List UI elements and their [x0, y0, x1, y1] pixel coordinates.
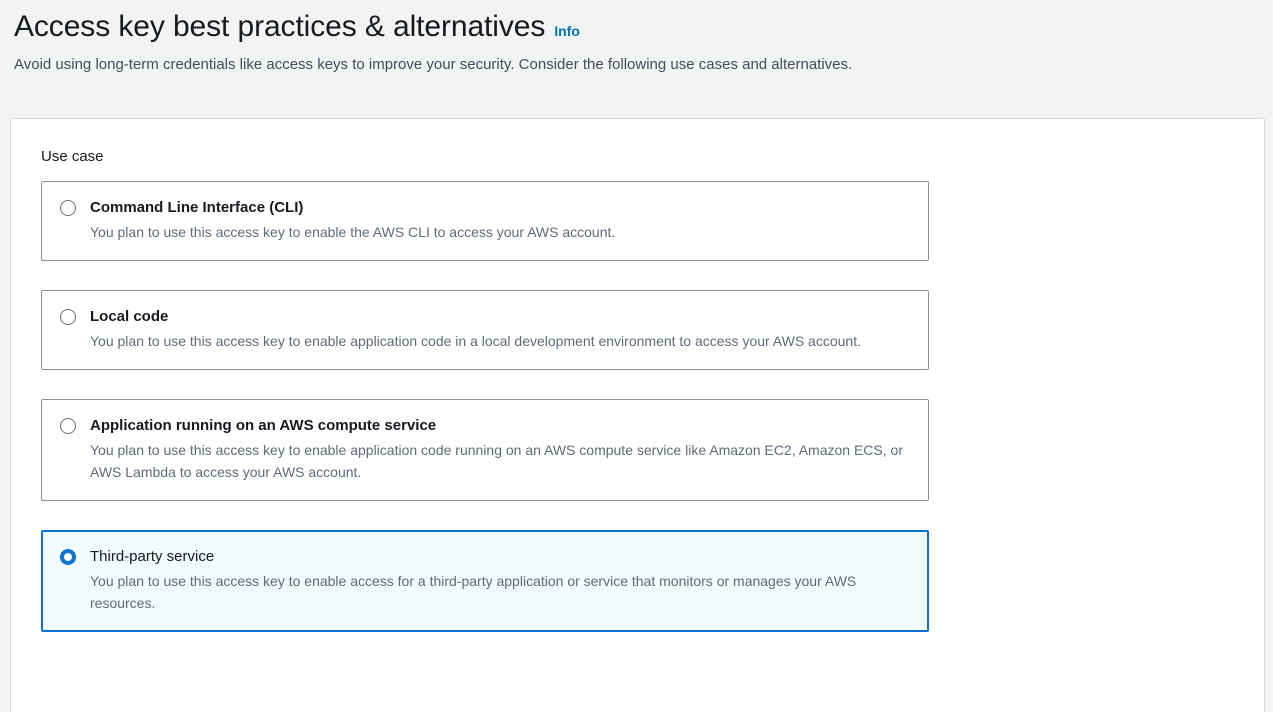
use-case-radio-group: Command Line Interface (CLI) You plan to…	[41, 181, 929, 632]
page-title: Access key best practices & alternatives	[14, 8, 545, 46]
radio-card-label: Application running on an AWS compute se…	[90, 416, 910, 436]
radio-card-description: You plan to use this access key to enabl…	[90, 570, 910, 614]
radio-card-description: You plan to use this access key to enabl…	[90, 439, 910, 483]
radio-card-local-code[interactable]: Local code You plan to use this access k…	[41, 290, 929, 370]
radio-card-description: You plan to use this access key to enabl…	[90, 330, 910, 352]
radio-card-cli[interactable]: Command Line Interface (CLI) You plan to…	[41, 181, 929, 261]
radio-card-text: Third-party service You plan to use this…	[90, 547, 910, 614]
use-case-panel-body: Use case Command Line Interface (CLI) Yo…	[11, 119, 1264, 632]
radio-button-icon[interactable]	[60, 309, 76, 325]
radio-card-description: You plan to use this access key to enabl…	[90, 221, 910, 243]
radio-card-label: Command Line Interface (CLI)	[90, 198, 910, 218]
radio-card-aws-compute-service[interactable]: Application running on an AWS compute se…	[41, 399, 929, 501]
access-key-best-practices-page: Access key best practices & alternatives…	[0, 0, 1273, 712]
radio-card-text: Application running on an AWS compute se…	[90, 416, 910, 483]
radio-card-text: Local code You plan to use this access k…	[90, 307, 910, 352]
radio-button-icon[interactable]	[60, 418, 76, 434]
radio-card-text: Command Line Interface (CLI) You plan to…	[90, 198, 910, 243]
radio-card-third-party-service[interactable]: Third-party service You plan to use this…	[41, 530, 929, 632]
radio-card-label: Local code	[90, 307, 910, 327]
radio-button-selected-icon[interactable]	[60, 549, 76, 565]
radio-card-label: Third-party service	[90, 547, 910, 567]
page-header: Access key best practices & alternatives…	[0, 0, 1273, 76]
use-case-label: Use case	[41, 147, 1264, 167]
info-link[interactable]: Info	[554, 22, 580, 40]
title-row: Access key best practices & alternatives…	[14, 8, 1273, 46]
use-case-panel: Use case Command Line Interface (CLI) Yo…	[10, 118, 1265, 712]
radio-button-icon[interactable]	[60, 200, 76, 216]
page-subtitle: Avoid using long-term credentials like a…	[14, 54, 1273, 76]
